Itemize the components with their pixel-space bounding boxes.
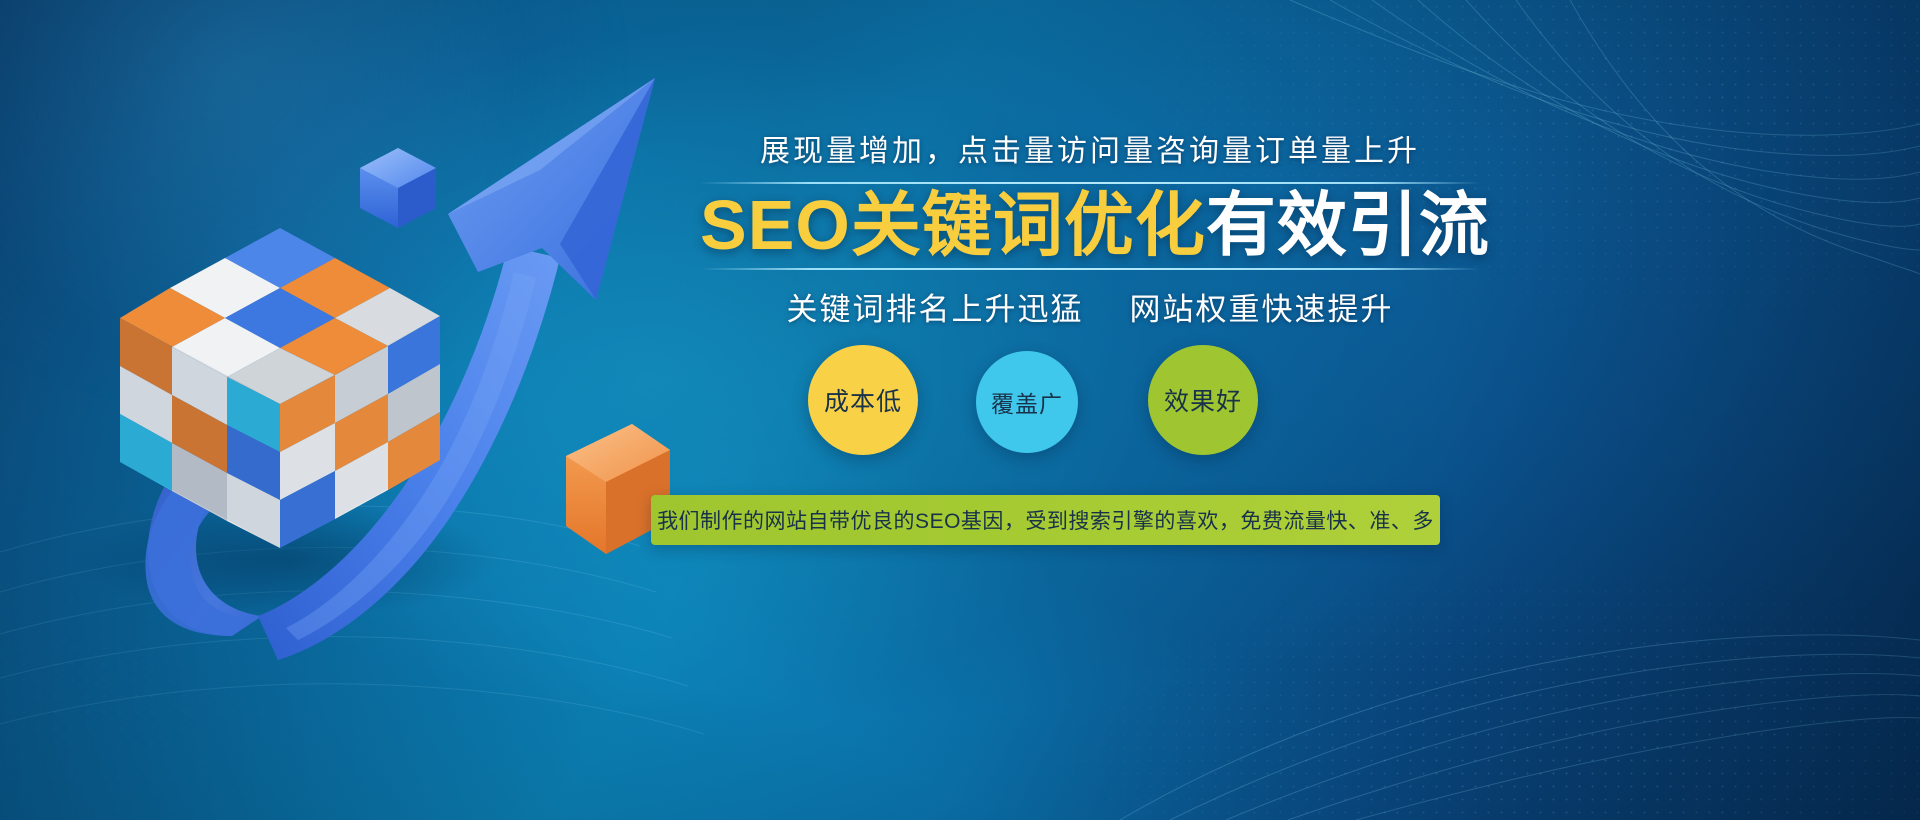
subline: 关键词排名上升迅猛网站权重快速提升 [700, 284, 1480, 329]
benefit-circle-cost[interactable]: 成本低 [808, 345, 918, 455]
seo-banner: 展现量增加，点击量访问量咨询量订单量上升 SEO关键词优化有效引流 关键词排名上… [0, 0, 1920, 820]
subline-right: 网站权重快速提升 [1130, 292, 1394, 327]
headline-rest: 有效引流 [1206, 186, 1490, 264]
kicker-text: 展现量增加，点击量访问量咨询量订单量上升 [700, 126, 1480, 170]
tagline-text: 我们制作的网站自带优良的SEO基因，受到搜索引擎的喜欢，免费流量快、准、多 [657, 505, 1434, 535]
benefit-label-cost: 成本低 [824, 382, 902, 418]
divider-top [700, 182, 1480, 184]
benefit-circle-effect[interactable]: 效果好 [1148, 345, 1258, 455]
tagline-strap: 我们制作的网站自带优良的SEO基因，受到搜索引擎的喜欢，免费流量快、准、多 [651, 495, 1440, 545]
hero-illustration [0, 0, 760, 820]
headline: SEO关键词优化有效引流 [700, 186, 1480, 264]
subline-left: 关键词排名上升迅猛 [787, 292, 1084, 327]
benefit-circles: 成本低 覆盖广 效果好 [808, 345, 1288, 465]
benefit-circle-coverage[interactable]: 覆盖广 [976, 351, 1078, 453]
floating-blue-cube-icon [360, 148, 436, 228]
benefit-label-coverage: 覆盖广 [991, 385, 1063, 419]
benefit-label-effect: 效果好 [1164, 382, 1242, 418]
headline-highlight: SEO关键词优化 [700, 186, 1206, 264]
divider-bottom [700, 268, 1480, 270]
copy-block: 展现量增加，点击量访问量咨询量订单量上升 SEO关键词优化有效引流 关键词排名上… [700, 126, 1480, 329]
